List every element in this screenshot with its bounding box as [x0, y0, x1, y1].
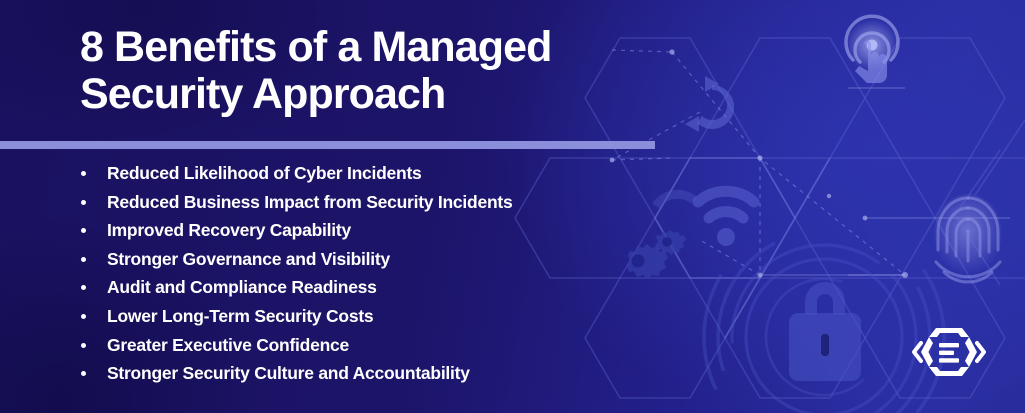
- list-item-label: Lower Long-Term Security Costs: [107, 306, 373, 326]
- list-item-label: Stronger Security Culture and Accountabi…: [107, 363, 470, 383]
- list-item: Reduced Likelihood of Cyber Incidents: [78, 159, 698, 188]
- bullet-icon: [81, 314, 86, 319]
- bullet-icon: [81, 228, 86, 233]
- bullet-icon: [81, 257, 86, 262]
- list-item: Improved Recovery Capability: [78, 216, 698, 245]
- bullet-icon: [81, 343, 86, 348]
- fingerprint-icon: [934, 194, 1002, 282]
- wifi-icon-dot: [717, 228, 735, 246]
- page-title-line-2: Security Approach: [80, 71, 680, 118]
- list-item-label: Audit and Compliance Readiness: [107, 277, 377, 297]
- list-item: Stronger Governance and Visibility: [78, 245, 698, 274]
- list-item-label: Stronger Governance and Visibility: [107, 249, 390, 269]
- bullet-icon: [81, 171, 86, 176]
- bullet-icon: [81, 200, 86, 205]
- wifi-icon: [698, 191, 754, 218]
- touch-pointer-icon: [846, 16, 898, 83]
- padlock-icon: [789, 282, 861, 381]
- list-item-label: Reduced Business Impact from Security In…: [107, 192, 512, 212]
- page-title: 8 Benefits of a Managed Security Approac…: [80, 24, 680, 118]
- title-divider: [0, 141, 655, 149]
- list-item: Audit and Compliance Readiness: [78, 273, 698, 302]
- bullet-icon: [81, 371, 86, 376]
- banner: 8 Benefits of a Managed Security Approac…: [0, 0, 1025, 413]
- bullet-icon: [81, 285, 86, 290]
- list-item-label: Greater Executive Confidence: [107, 335, 349, 355]
- hexagon-e-logo: [911, 325, 987, 379]
- list-item: Stronger Security Culture and Accountabi…: [78, 359, 698, 388]
- benefits-list: Reduced Likelihood of Cyber Incidents Re…: [78, 159, 698, 388]
- list-item: Reduced Business Impact from Security In…: [78, 188, 698, 217]
- list-item: Lower Long-Term Security Costs: [78, 302, 698, 331]
- list-item-label: Reduced Likelihood of Cyber Incidents: [107, 163, 422, 183]
- list-item: Greater Executive Confidence: [78, 331, 698, 360]
- list-item-label: Improved Recovery Capability: [107, 220, 351, 240]
- banner-content: 8 Benefits of a Managed Security Approac…: [0, 0, 700, 413]
- page-title-line-1: 8 Benefits of a Managed: [80, 24, 680, 71]
